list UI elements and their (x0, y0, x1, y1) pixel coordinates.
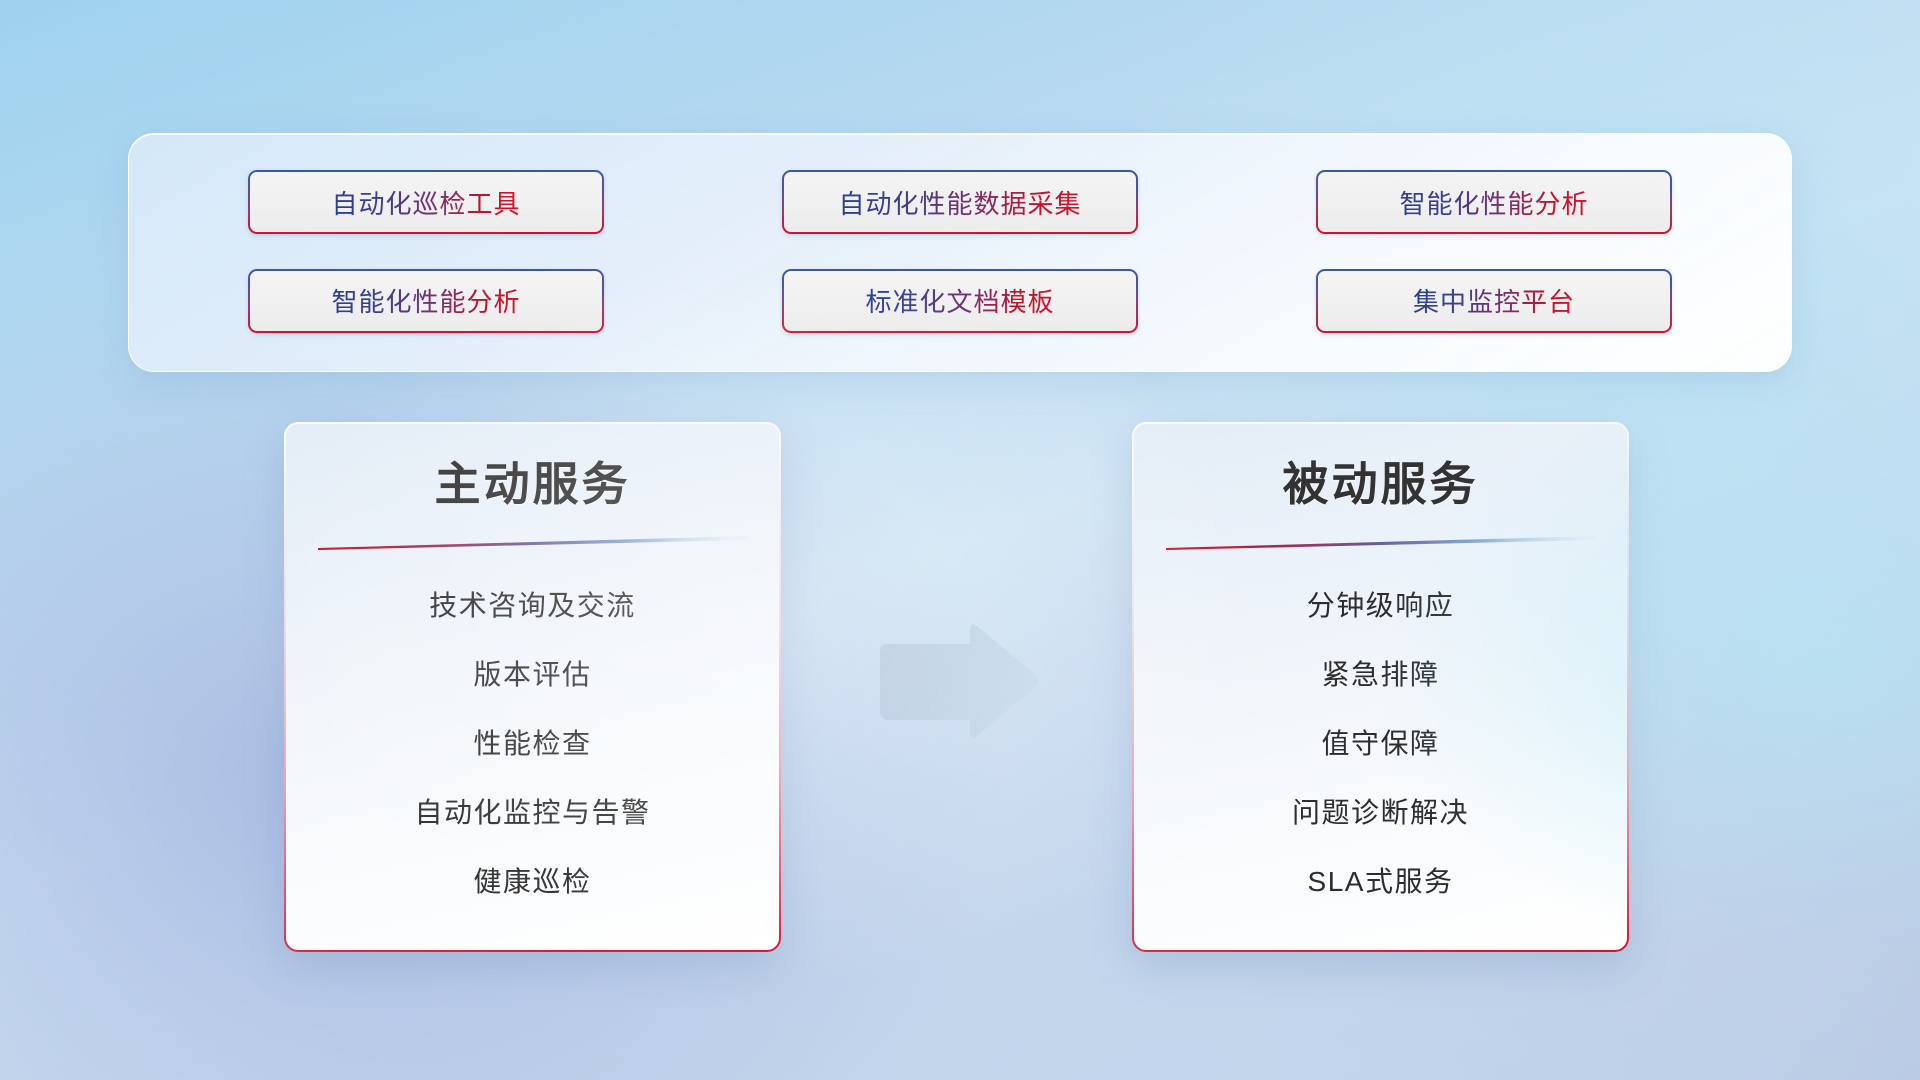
service-list-item: 分钟级响应 (1307, 584, 1455, 624)
service-list-item: 问题诊断解决 (1292, 791, 1469, 831)
capability-pill-face: 自动化巡检工具 (250, 172, 602, 232)
service-list-passive: 分钟级响应 紧急排障 值守保障 问题诊断解决 SLA式服务 (1164, 584, 1597, 900)
capability-pill-3[interactable]: 智能化性能分析 (1316, 170, 1672, 234)
capability-pill-face: 智能化性能分析 (250, 271, 602, 331)
card-title-passive: 被动服务 (1283, 456, 1479, 514)
capability-pill-5[interactable]: 标准化文档模板 (782, 269, 1138, 333)
capability-pill-1[interactable]: 自动化巡检工具 (248, 170, 604, 234)
capability-pill-2[interactable]: 自动化性能数据采集 (782, 170, 1138, 234)
service-list-active: 技术咨询及交流 版本评估 性能检查 自动化监控与告警 健康巡检 (316, 584, 749, 900)
title-divider (318, 536, 748, 550)
slide-canvas: 自动化巡检工具 自动化性能数据采集 智能化性能分析 智能化性能分析 标准化文档模… (0, 0, 1920, 1080)
service-card-active[interactable]: 主动服务 技术咨询及交流 (284, 422, 781, 952)
title-divider (1166, 536, 1596, 550)
service-list-item: SLA式服务 (1308, 860, 1454, 900)
service-card-face: 被动服务 分钟级响应 (1134, 424, 1627, 950)
card-title-active: 主动服务 (435, 456, 631, 514)
capability-pill-4[interactable]: 智能化性能分析 (248, 269, 604, 333)
capability-pill-label: 自动化巡检工具 (331, 184, 520, 221)
service-list-item: 自动化监控与告警 (414, 791, 650, 831)
arrow-right-icon (872, 618, 1038, 746)
capability-pill-label: 自动化性能数据采集 (838, 184, 1081, 221)
service-list-item: 技术咨询及交流 (429, 584, 636, 624)
capability-panel: 自动化巡检工具 自动化性能数据采集 智能化性能分析 智能化性能分析 标准化文档模… (128, 133, 1792, 372)
capability-pill-face: 集中监控平台 (1318, 271, 1670, 331)
capability-pill-label: 智能化性能分析 (1399, 184, 1588, 221)
service-list-item: 值守保障 (1321, 722, 1439, 762)
capability-pill-face: 标准化文档模板 (784, 271, 1136, 331)
service-list-item: 紧急排障 (1321, 653, 1439, 693)
capability-pill-6[interactable]: 集中监控平台 (1316, 269, 1672, 333)
capability-pill-label: 集中监控平台 (1413, 282, 1575, 319)
capability-pill-label: 标准化文档模板 (865, 282, 1054, 319)
service-list-item: 健康巡检 (473, 860, 591, 900)
service-card-face: 主动服务 技术咨询及交流 (286, 424, 779, 950)
capability-pill-face: 自动化性能数据采集 (784, 172, 1136, 232)
capability-pill-face: 智能化性能分析 (1318, 172, 1670, 232)
service-list-item: 版本评估 (473, 653, 591, 693)
capability-pill-label: 智能化性能分析 (331, 282, 520, 319)
service-card-passive[interactable]: 被动服务 分钟级响应 (1132, 422, 1629, 952)
service-list-item: 性能检查 (473, 722, 591, 762)
